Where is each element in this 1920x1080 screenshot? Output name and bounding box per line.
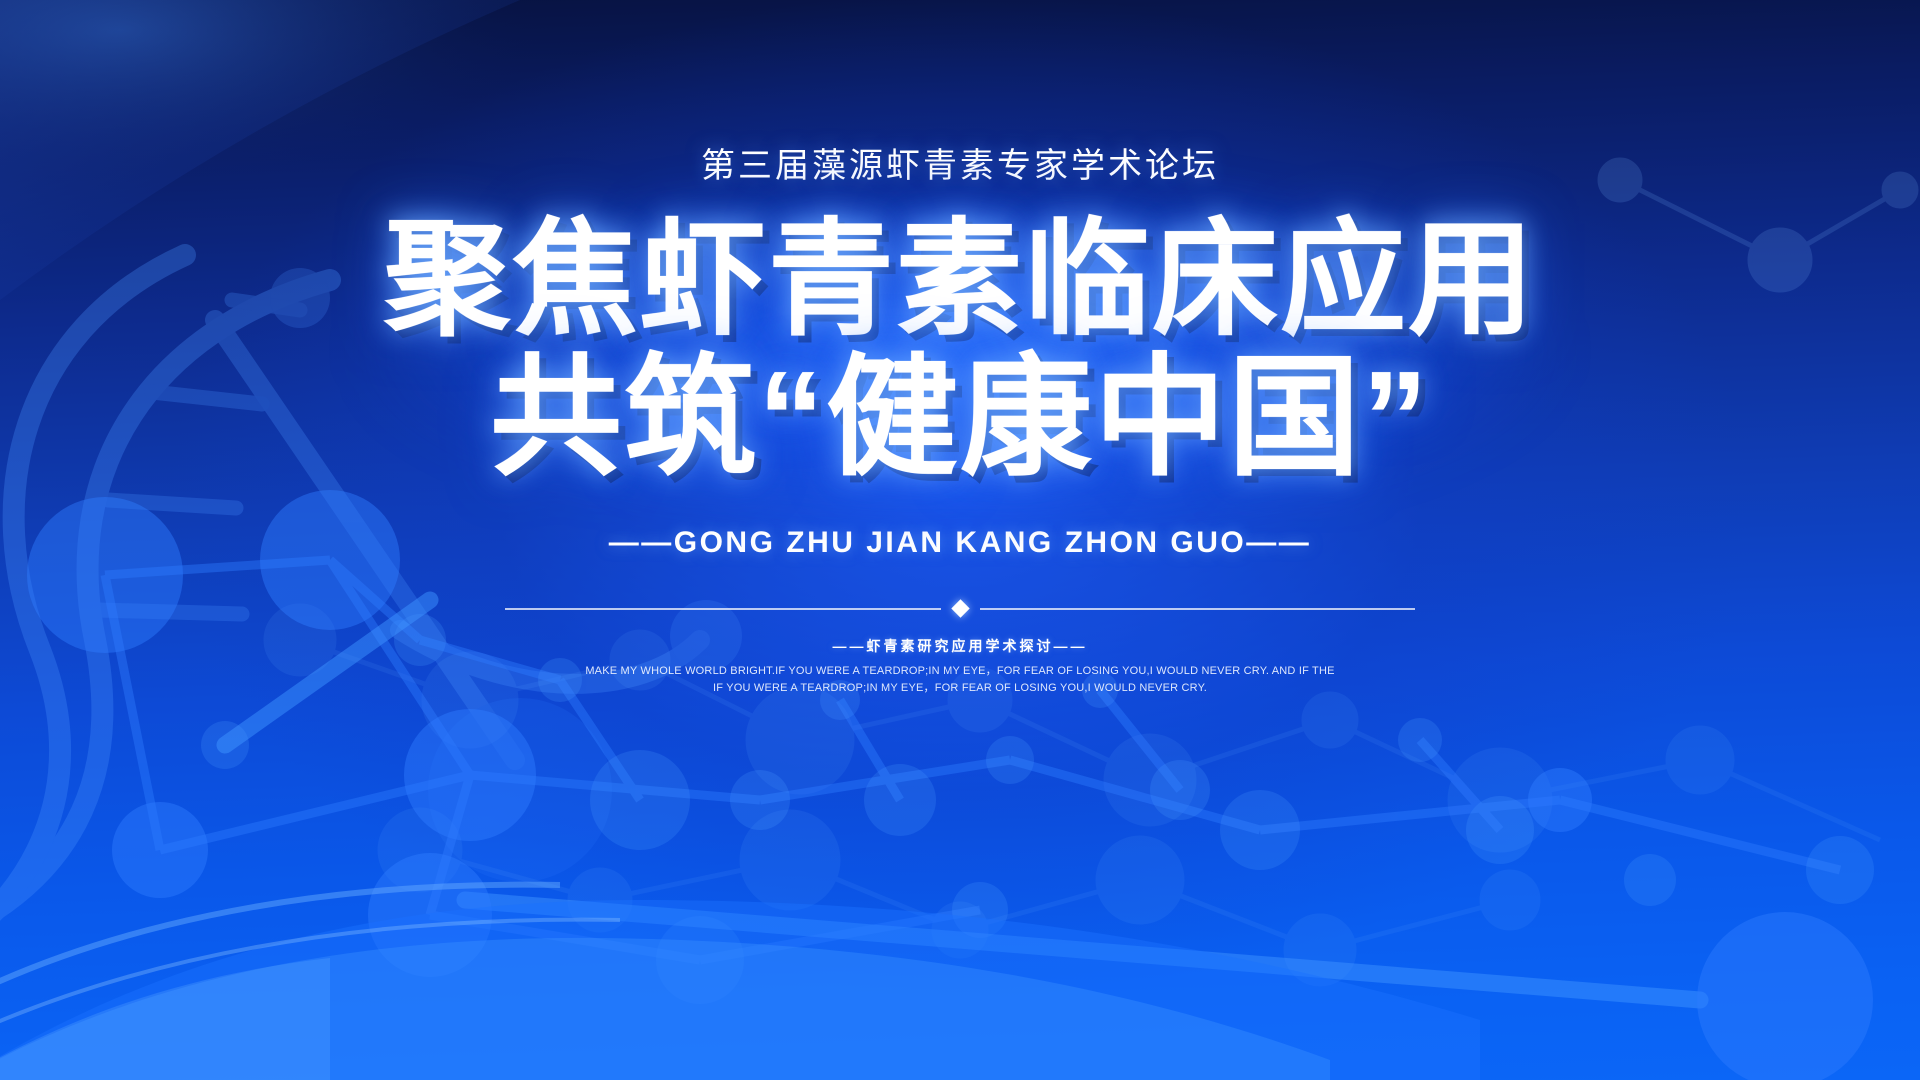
pinyin-line: ——GONG ZHU JIAN KANG ZHON GUO——	[609, 526, 1312, 560]
theme-caption: ——虾青素研究应用学术探讨——	[833, 636, 1088, 656]
poster-content: 第三届藻源虾青素专家学术论坛 聚焦虾青素临床应用 共筑“健康中国” ——GONG…	[0, 0, 1920, 1080]
divider-bar-right	[980, 608, 1416, 610]
main-title-block: 聚焦虾青素临床应用 共筑“健康中国”	[384, 209, 1536, 492]
diamond-divider	[505, 598, 1415, 620]
event-subtitle: 第三届藻源虾青素专家学术论坛	[701, 138, 1219, 187]
main-title-line-1: 聚焦虾青素临床应用	[384, 209, 1536, 350]
poster-canvas: 第三届藻源虾青素专家学术论坛 聚焦虾青素临床应用 共筑“健康中国” ——GONG…	[0, 0, 1920, 1080]
diamond-icon	[951, 600, 969, 618]
main-title-line-2: 共筑“健康中国”	[384, 344, 1536, 492]
english-fine-print: MAKE MY WHOLE WORLD BRIGHT.IF YOU WERE A…	[420, 663, 1500, 696]
english-fine-print-line-1: MAKE MY WHOLE WORLD BRIGHT.IF YOU WERE A…	[420, 663, 1500, 680]
divider-bar-left	[505, 608, 941, 610]
english-fine-print-line-2: IF YOU WERE A TEARDROP;IN MY EYE，FOR FEA…	[420, 680, 1500, 697]
